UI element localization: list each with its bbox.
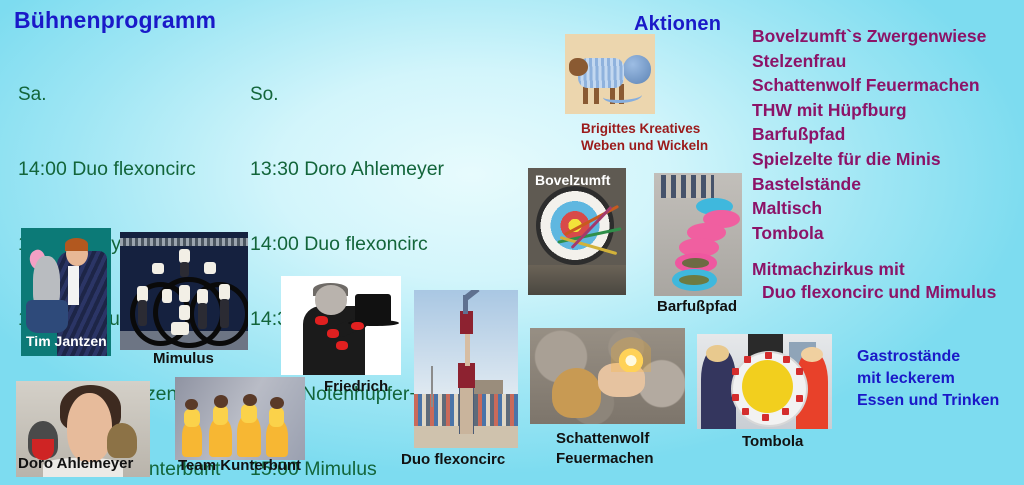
caption-mimulus: Mimulus bbox=[153, 350, 214, 367]
caption-tim-jantzen: Tim Jantzen bbox=[26, 333, 107, 350]
photo-mimulus-content bbox=[120, 232, 248, 350]
action-item: Tombola bbox=[752, 221, 1024, 246]
photo-duo-flexoncirc-content bbox=[414, 290, 518, 448]
schedule-row: 14:00 Duo flexoncirc bbox=[18, 157, 236, 182]
schedule-row: 14:00 Duo flexoncirc bbox=[250, 232, 503, 257]
caption-bovelzumft: Bovelzumft bbox=[535, 172, 610, 189]
photo-schattenwolf bbox=[530, 328, 685, 424]
caption-team-kunterbunt: Team Kunterbunt bbox=[178, 457, 301, 474]
action-item: Stelzenfrau bbox=[752, 49, 1024, 74]
gastro-line-1: Gastrostände bbox=[857, 346, 1024, 368]
actions-list: Bovelzumft`s Zwergenwiese Stelzenfrau Sc… bbox=[752, 24, 1024, 245]
action-item: Bastelstände bbox=[752, 172, 1024, 197]
caption-friedrich: Friedrich bbox=[324, 378, 388, 395]
photo-barfusspfad-content bbox=[654, 173, 742, 296]
gastro-note: Gastrostände mit leckerem Essen und Trin… bbox=[857, 346, 1024, 412]
photo-duo-flexoncirc bbox=[414, 290, 518, 448]
caption-tombola: Tombola bbox=[742, 433, 803, 450]
photo-mimulus bbox=[120, 232, 248, 350]
gastro-line-3: Essen und Trinken bbox=[857, 390, 1024, 412]
event-poster: Bühnenprogramm Aktionen Sa. 14:00 Duo fl… bbox=[0, 0, 1024, 485]
action-item: Bovelzumft`s Zwergenwiese bbox=[752, 24, 1024, 49]
photo-team-kunterbunt bbox=[175, 377, 305, 460]
photo-team-kunterbunt-content bbox=[175, 377, 305, 460]
caption-brigittes-weben-line-2: Weben und Wickeln bbox=[581, 137, 708, 154]
schedule-row: 13:30 Doro Ahlemeyer bbox=[250, 157, 503, 182]
photo-barfusspfad bbox=[654, 173, 742, 296]
caption-doro-ahlemeyer: Doro Ahlemeyer bbox=[18, 455, 133, 472]
caption-barfusspfad: Barfußpfad bbox=[657, 298, 737, 315]
action-item: Maltisch bbox=[752, 196, 1024, 221]
caption-schattenwolf-line-2: Feuermachen bbox=[556, 450, 654, 467]
action-item: Barfußpfad bbox=[752, 122, 1024, 147]
action-item: Schattenwolf Feuermachen bbox=[752, 73, 1024, 98]
photo-brigittes-weben-content bbox=[565, 34, 655, 114]
photo-friedrich bbox=[281, 276, 401, 375]
caption-brigittes-weben-line-1: Brigittes Kreatives bbox=[581, 120, 700, 137]
mitmachzirkus-line-2: Duo flexoncirc und Mimulus bbox=[752, 281, 1024, 304]
caption-schattenwolf-line-1: Schattenwolf bbox=[556, 430, 649, 447]
photo-brigittes-weben bbox=[565, 34, 655, 114]
page-title-actions: Aktionen bbox=[634, 13, 721, 36]
mitmachzirkus-note: Mitmachzirkus mit Duo flexoncirc und Mim… bbox=[752, 258, 1024, 304]
schedule-sunday-day-label: So. bbox=[250, 82, 503, 107]
photo-schattenwolf-content bbox=[530, 328, 685, 424]
gastro-line-2: mit leckerem bbox=[857, 368, 1024, 390]
action-item: Spielzelte für die Minis bbox=[752, 147, 1024, 172]
page-title-stage-program: Bühnenprogramm bbox=[14, 7, 216, 34]
action-item: THW mit Hüpfburg bbox=[752, 98, 1024, 123]
mitmachzirkus-line-1: Mitmachzirkus mit bbox=[752, 258, 1024, 281]
caption-duo-flexoncirc: Duo flexoncirc bbox=[401, 451, 505, 468]
photo-friedrich-content bbox=[281, 276, 401, 375]
schedule-saturday-day-label: Sa. bbox=[18, 82, 236, 107]
photo-tombola-content bbox=[697, 334, 832, 429]
photo-tombola bbox=[697, 334, 832, 429]
